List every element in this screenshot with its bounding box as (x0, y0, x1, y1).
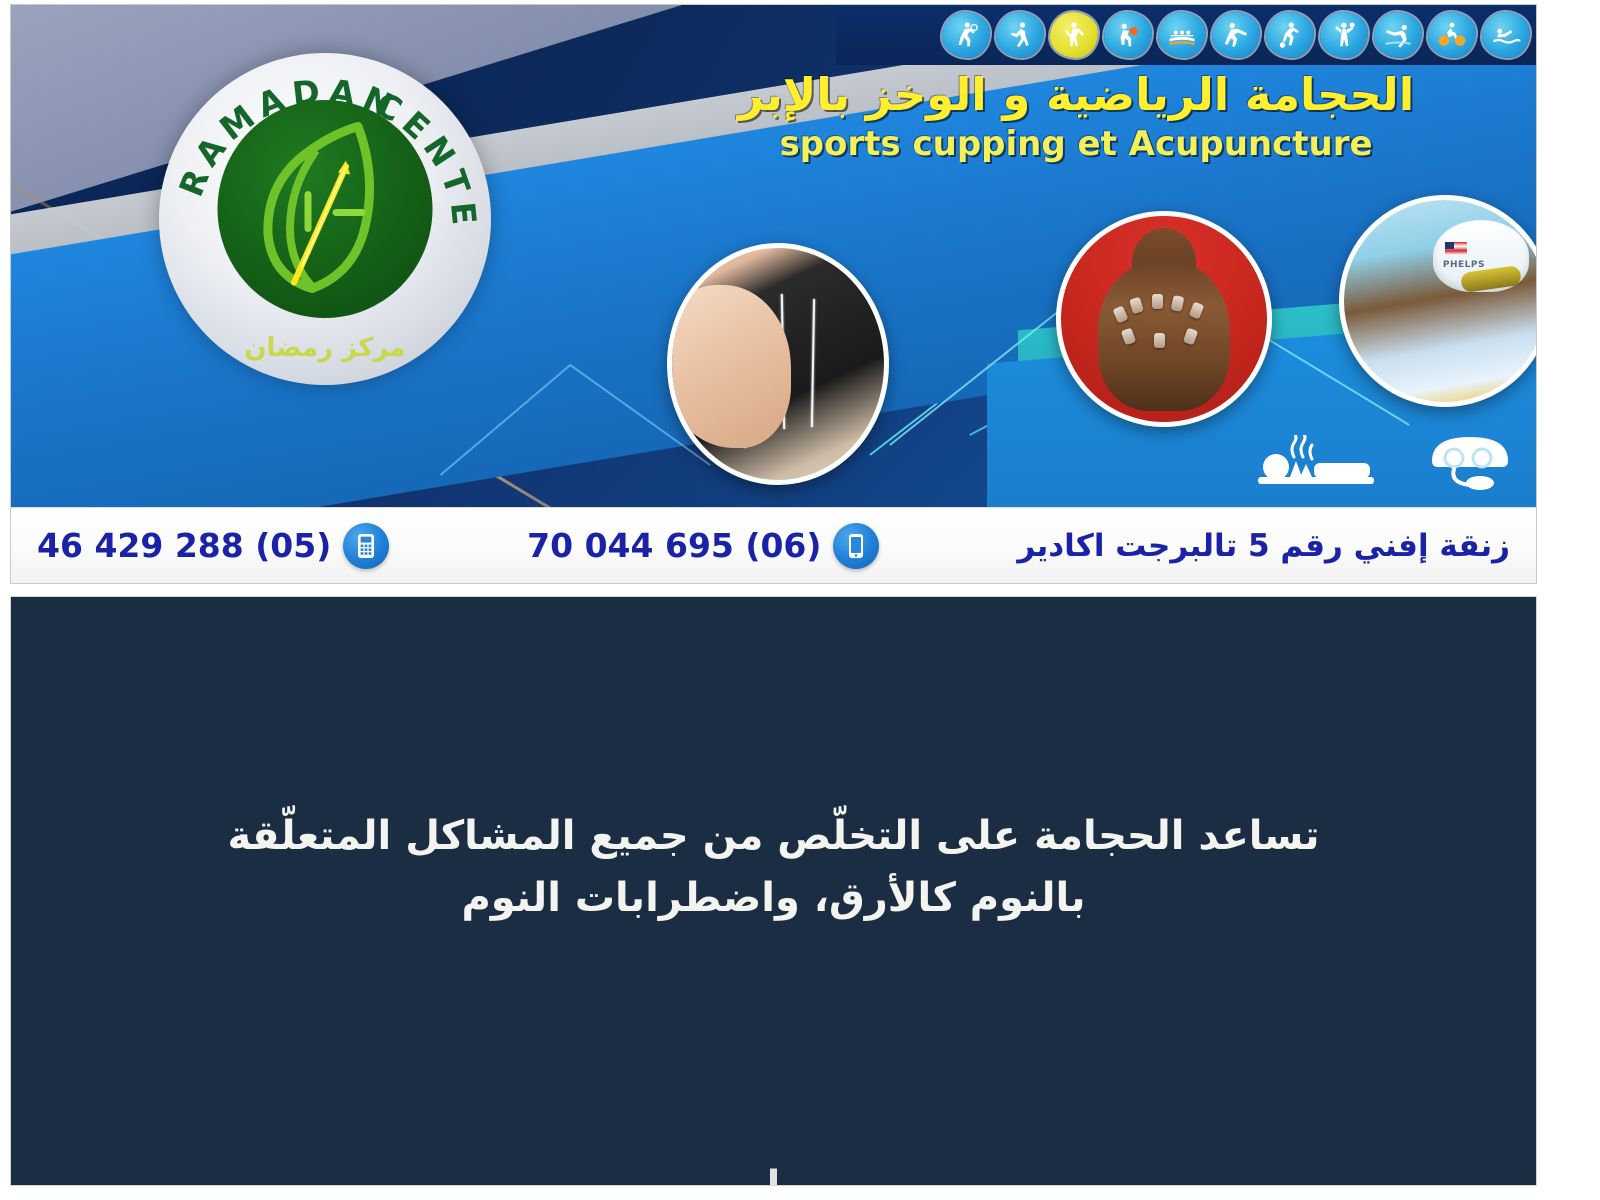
leaf-with-needle-icon (250, 117, 400, 302)
needle-3 (811, 299, 815, 427)
hand-shape (667, 285, 791, 447)
headline-arabic: الحجامة الرياضية و الوخز بالإبر (656, 71, 1496, 118)
landline-phone-item[interactable]: (05) 288 429 46 (37, 523, 389, 569)
desk-phone-icon (343, 523, 389, 569)
gymnastics-icon (1050, 12, 1098, 58)
benefit-line-3-partial: ا (767, 1163, 781, 1186)
cupping-dot (1152, 294, 1163, 309)
cupping-athlete-photo (1056, 211, 1272, 427)
swimmer-phelps-photo: PHELPS (1339, 195, 1536, 407)
address-item: زنقة إفني رقم 5 تالبرجت اكادير (1017, 528, 1510, 564)
sports-icon-strip (836, 5, 1536, 65)
spa-therapy-icon (1424, 431, 1516, 491)
benefit-line-2: بالنوم كالأرق، واضطرابات النوم (124, 867, 1424, 929)
taekwondo-icon (1212, 12, 1260, 58)
cycling-icon (1428, 12, 1476, 58)
mobile-phone-item[interactable]: (06) 695 044 70 (527, 523, 879, 569)
benefit-line-1: تساعد الحجامة على التخلّص من جميع المشاك… (124, 805, 1424, 867)
swimming-icon (1482, 12, 1530, 58)
clinic-banner: الحجامة الرياضية و الوخز بالإبر sports c… (10, 4, 1537, 584)
page-root: الحجامة الرياضية و الوخز بالإبر sports c… (0, 0, 1600, 1200)
acupuncture-needles-photo (667, 243, 889, 485)
banner-artwork: الحجامة الرياضية و الوخز بالإبر sports c… (11, 5, 1536, 509)
mobile-phone-icon (833, 523, 879, 569)
basketball-icon (942, 12, 990, 58)
cupping-dot (1154, 333, 1165, 348)
boxing-icon (1104, 12, 1152, 58)
banner-headline-block: الحجامة الرياضية و الوخز بالإبر sports c… (656, 71, 1496, 164)
swim-cap-text: PHELPS (1443, 260, 1485, 270)
usa-flag-icon (1445, 242, 1467, 255)
rowing-icon (1158, 12, 1206, 58)
ramadan-center-logo: RAMADAN CENTER مركز رمضان (159, 53, 491, 385)
content-panel: تساعد الحجامة على التخلّص من جميع المشاك… (10, 596, 1537, 1186)
mobile-phone-number: (06) 695 044 70 (527, 526, 821, 565)
football-icon (1266, 12, 1314, 58)
clinic-address: زنقة إفني رقم 5 تالبرجت اكادير (1017, 528, 1510, 564)
contact-bar: زنقة إفني رقم 5 تالبرجت اكادير (06) 695 … (11, 507, 1536, 583)
benefit-statement: تساعد الحجامة على التخلّص من جميع المشاك… (124, 805, 1424, 929)
hot-stone-massage-icon (1256, 435, 1376, 491)
diving-icon (1374, 12, 1422, 58)
volleyball-icon (1320, 12, 1368, 58)
landline-phone-number: (05) 288 429 46 (37, 526, 331, 565)
spa-icon-group (1256, 431, 1516, 491)
headline-french: sports cupping et Acupuncture (656, 124, 1496, 164)
logo-arabic-text: مركز رمضان (244, 333, 405, 363)
athletics-throw-icon (996, 12, 1044, 58)
